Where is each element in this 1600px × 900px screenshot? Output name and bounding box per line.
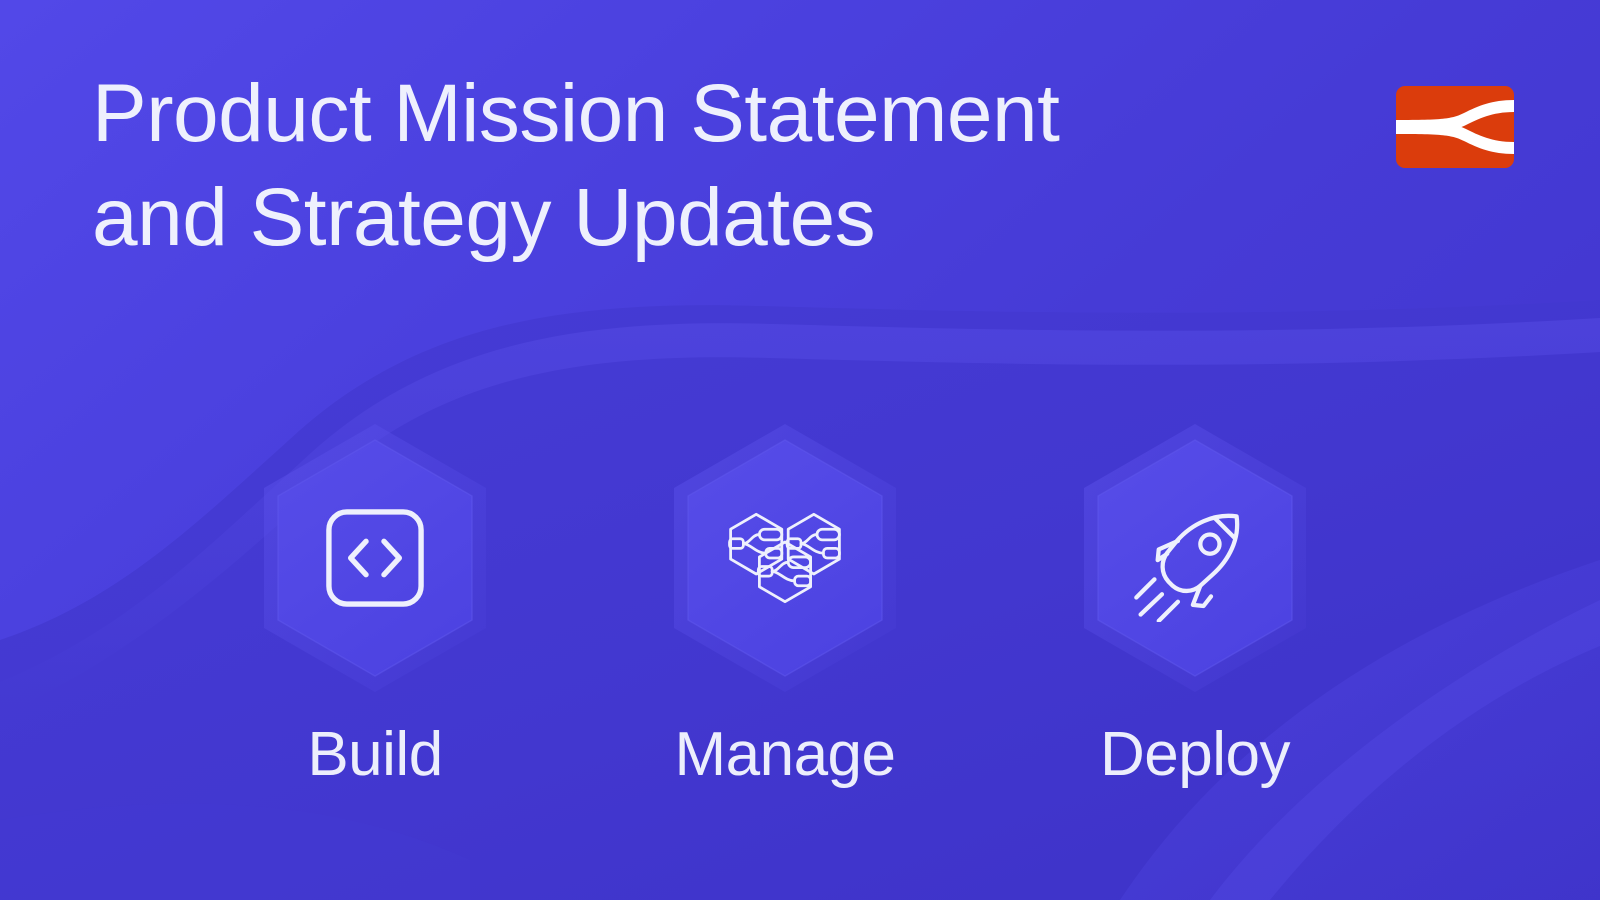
brand-logo bbox=[1396, 86, 1514, 168]
hexagon-deploy[interactable] bbox=[1070, 418, 1320, 698]
node-hexagon-2 bbox=[787, 514, 839, 574]
feature-row: Build bbox=[0, 418, 1600, 792]
hexagon-node-graph-icon bbox=[721, 494, 849, 622]
motion-line-1 bbox=[1141, 594, 1162, 614]
title-line-1: Product Mission Statement bbox=[92, 62, 1242, 166]
feature-label-manage: Manage bbox=[674, 718, 895, 792]
presentation-slide: Product Mission Statement and Strategy U… bbox=[0, 0, 1600, 900]
motion-line-3 bbox=[1159, 602, 1178, 621]
rocket-icon bbox=[1131, 494, 1259, 622]
page-title: Product Mission Statement and Strategy U… bbox=[92, 62, 1242, 270]
motion-line-2 bbox=[1136, 579, 1154, 597]
feature-manage[interactable]: Manage bbox=[575, 418, 995, 792]
feature-deploy[interactable]: Deploy bbox=[985, 418, 1405, 792]
feature-build[interactable]: Build bbox=[165, 418, 585, 792]
hexagon-manage[interactable] bbox=[660, 418, 910, 698]
hexagon-build[interactable] bbox=[250, 418, 500, 698]
feature-label-build: Build bbox=[307, 718, 442, 792]
node-hexagon-1 bbox=[730, 514, 782, 574]
feature-label-deploy: Deploy bbox=[1100, 718, 1290, 792]
wave-bottom-left bbox=[0, 804, 470, 900]
title-line-2: and Strategy Updates bbox=[92, 166, 1242, 270]
code-brackets-icon bbox=[311, 494, 439, 622]
